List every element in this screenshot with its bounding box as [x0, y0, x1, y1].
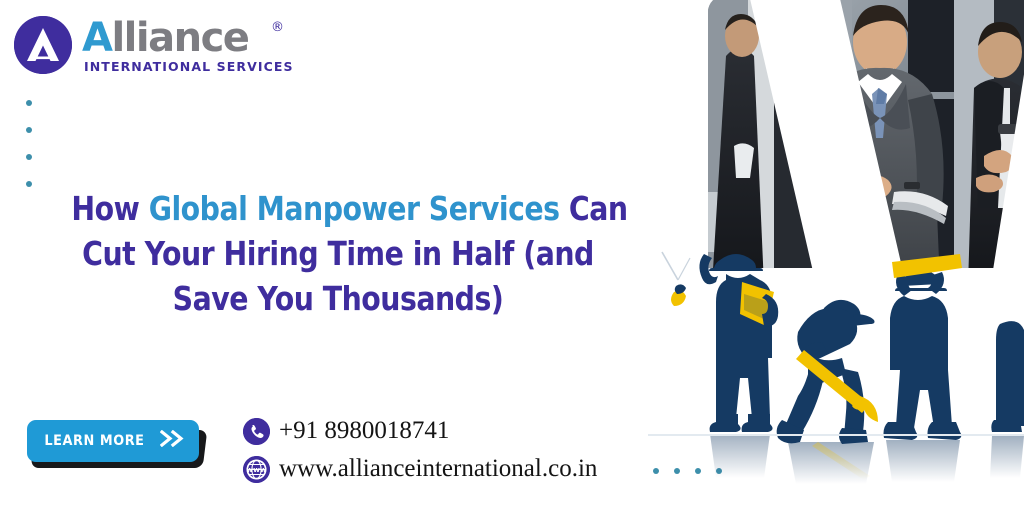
contact-row-phone[interactable]: +91 8980018741: [243, 412, 597, 450]
headline-text-post: Can: [560, 189, 628, 228]
headline-line-1: How Global Manpower Services Can: [71, 186, 604, 231]
decor-dot: [26, 127, 32, 133]
learn-more-label: LEARN MORE: [44, 433, 144, 449]
headline-keyword: Global Manpower Services: [149, 189, 560, 228]
brand-name-initial: A: [82, 15, 111, 61]
worker-silhouette-2: [777, 300, 878, 484]
website-url: www.allianceinternational.co.in: [279, 455, 597, 483]
marketing-banner: Alliance ® INTERNATIONAL SERVICES How Gl…: [0, 0, 1024, 512]
decor-dot: [26, 100, 32, 106]
banner-artwork: [648, 0, 1024, 512]
button-face[interactable]: LEARN MORE: [27, 420, 199, 462]
phone-icon: [243, 418, 270, 445]
headline: How Global Manpower Services Can Cut You…: [71, 186, 604, 321]
registered-trademark-symbol: ®: [271, 20, 284, 35]
brand-name: Alliance: [82, 18, 248, 58]
brand-wordmark: Alliance ® INTERNATIONAL SERVICES: [82, 18, 312, 76]
worker-silhouette-4: [990, 321, 1024, 478]
contact-row-website[interactable]: www www.allianceinternational.co.in: [243, 450, 597, 488]
brand-logo[interactable]: Alliance ® INTERNATIONAL SERVICES: [14, 8, 314, 80]
decor-dot: [26, 154, 32, 160]
svg-text:www: www: [246, 465, 267, 474]
globe-www-icon: www: [243, 456, 270, 483]
headline-text-pre: How: [71, 189, 148, 228]
headline-line-3: Save You Thousands): [71, 276, 604, 321]
learn-more-button[interactable]: LEARN MORE: [27, 420, 199, 462]
alliance-a-monogram-icon: [14, 16, 72, 74]
phone-number: +91 8980018741: [279, 417, 449, 445]
decor-dot: [26, 181, 32, 187]
brand-name-rest: lliance: [111, 15, 248, 61]
construction-worker-silhouettes: [648, 236, 1024, 486]
worker-silhouette-3: [884, 254, 963, 482]
brand-tagline: INTERNATIONAL SERVICES: [84, 59, 294, 74]
contact-info: +91 8980018741 www www.allianceinternati…: [243, 412, 597, 488]
headline-line-2: Cut Your Hiring Time in Half (and: [71, 231, 604, 276]
worker-silhouette-1: [699, 254, 778, 478]
double-chevron-right-icon: [160, 430, 186, 452]
